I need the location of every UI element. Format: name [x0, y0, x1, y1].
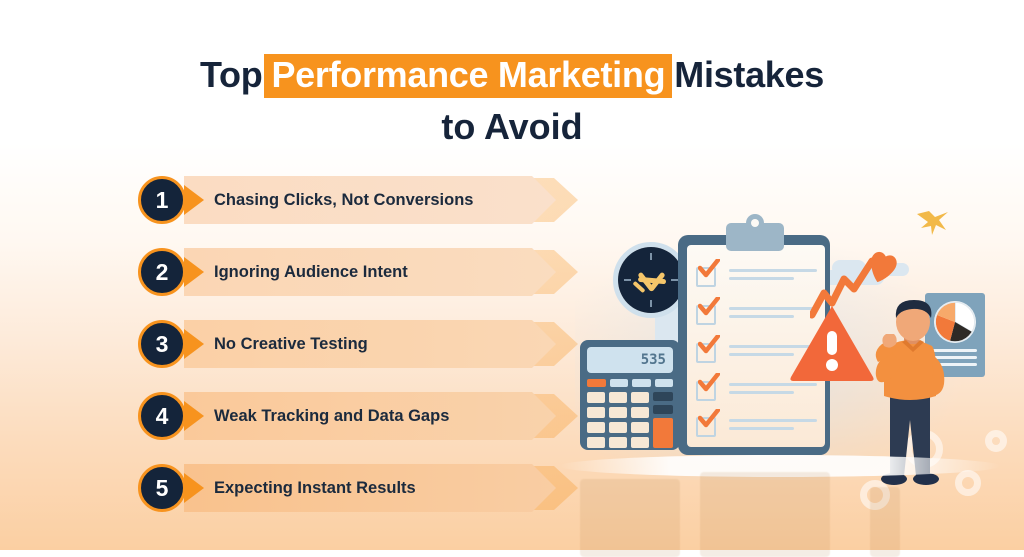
list-item[interactable]: 5 Expecting Instant Results — [138, 464, 578, 512]
checklist-row — [696, 379, 816, 409]
row-arrow-icon — [184, 329, 204, 359]
list-item[interactable]: 4 Weak Tracking and Data Gaps — [138, 392, 578, 440]
list-item[interactable]: 2 Ignoring Audience Intent — [138, 248, 578, 296]
list-item-number-badge: 1 — [138, 176, 186, 224]
checklist-row — [696, 265, 816, 295]
title-line-1: TopPerformance MarketingMistakes — [0, 52, 1024, 98]
alarm-clock-icon — [618, 247, 684, 313]
row-arrow-icon — [184, 257, 204, 287]
bird-icon — [915, 210, 949, 236]
list-item[interactable]: 3 No Creative Testing — [138, 320, 578, 368]
title-line-2: to Avoid — [0, 104, 1024, 150]
list-item-label: Ignoring Audience Intent — [214, 248, 408, 296]
list-item-number-badge: 5 — [138, 464, 186, 512]
title-word-mistakes: Mistakes — [674, 54, 824, 95]
title-highlight: Performance Marketing — [264, 54, 672, 98]
illustration: 535 — [560, 205, 1024, 505]
list-item-number-badge: 4 — [138, 392, 186, 440]
list-item-label: Expecting Instant Results — [214, 464, 416, 512]
row-arrow-icon — [184, 401, 204, 431]
checklist-row — [696, 415, 816, 445]
list-item-label: No Creative Testing — [214, 320, 368, 368]
mistakes-list: 1 Chasing Clicks, Not Conversions 2 Igno… — [138, 176, 578, 536]
illustration-reflection — [560, 467, 1000, 557]
calculator-display: 535 — [587, 347, 673, 373]
calculator-icon: 535 — [580, 340, 680, 450]
list-item-label: Chasing Clicks, Not Conversions — [214, 176, 473, 224]
list-item[interactable]: 1 Chasing Clicks, Not Conversions — [138, 176, 578, 224]
page-title: TopPerformance MarketingMistakes to Avoi… — [0, 52, 1024, 150]
list-item-number-badge: 3 — [138, 320, 186, 368]
title-word-top: Top — [200, 54, 262, 95]
list-item-label: Weak Tracking and Data Gaps — [214, 392, 449, 440]
row-arrow-icon — [184, 185, 204, 215]
list-item-number-badge: 2 — [138, 248, 186, 296]
row-arrow-icon — [184, 473, 204, 503]
